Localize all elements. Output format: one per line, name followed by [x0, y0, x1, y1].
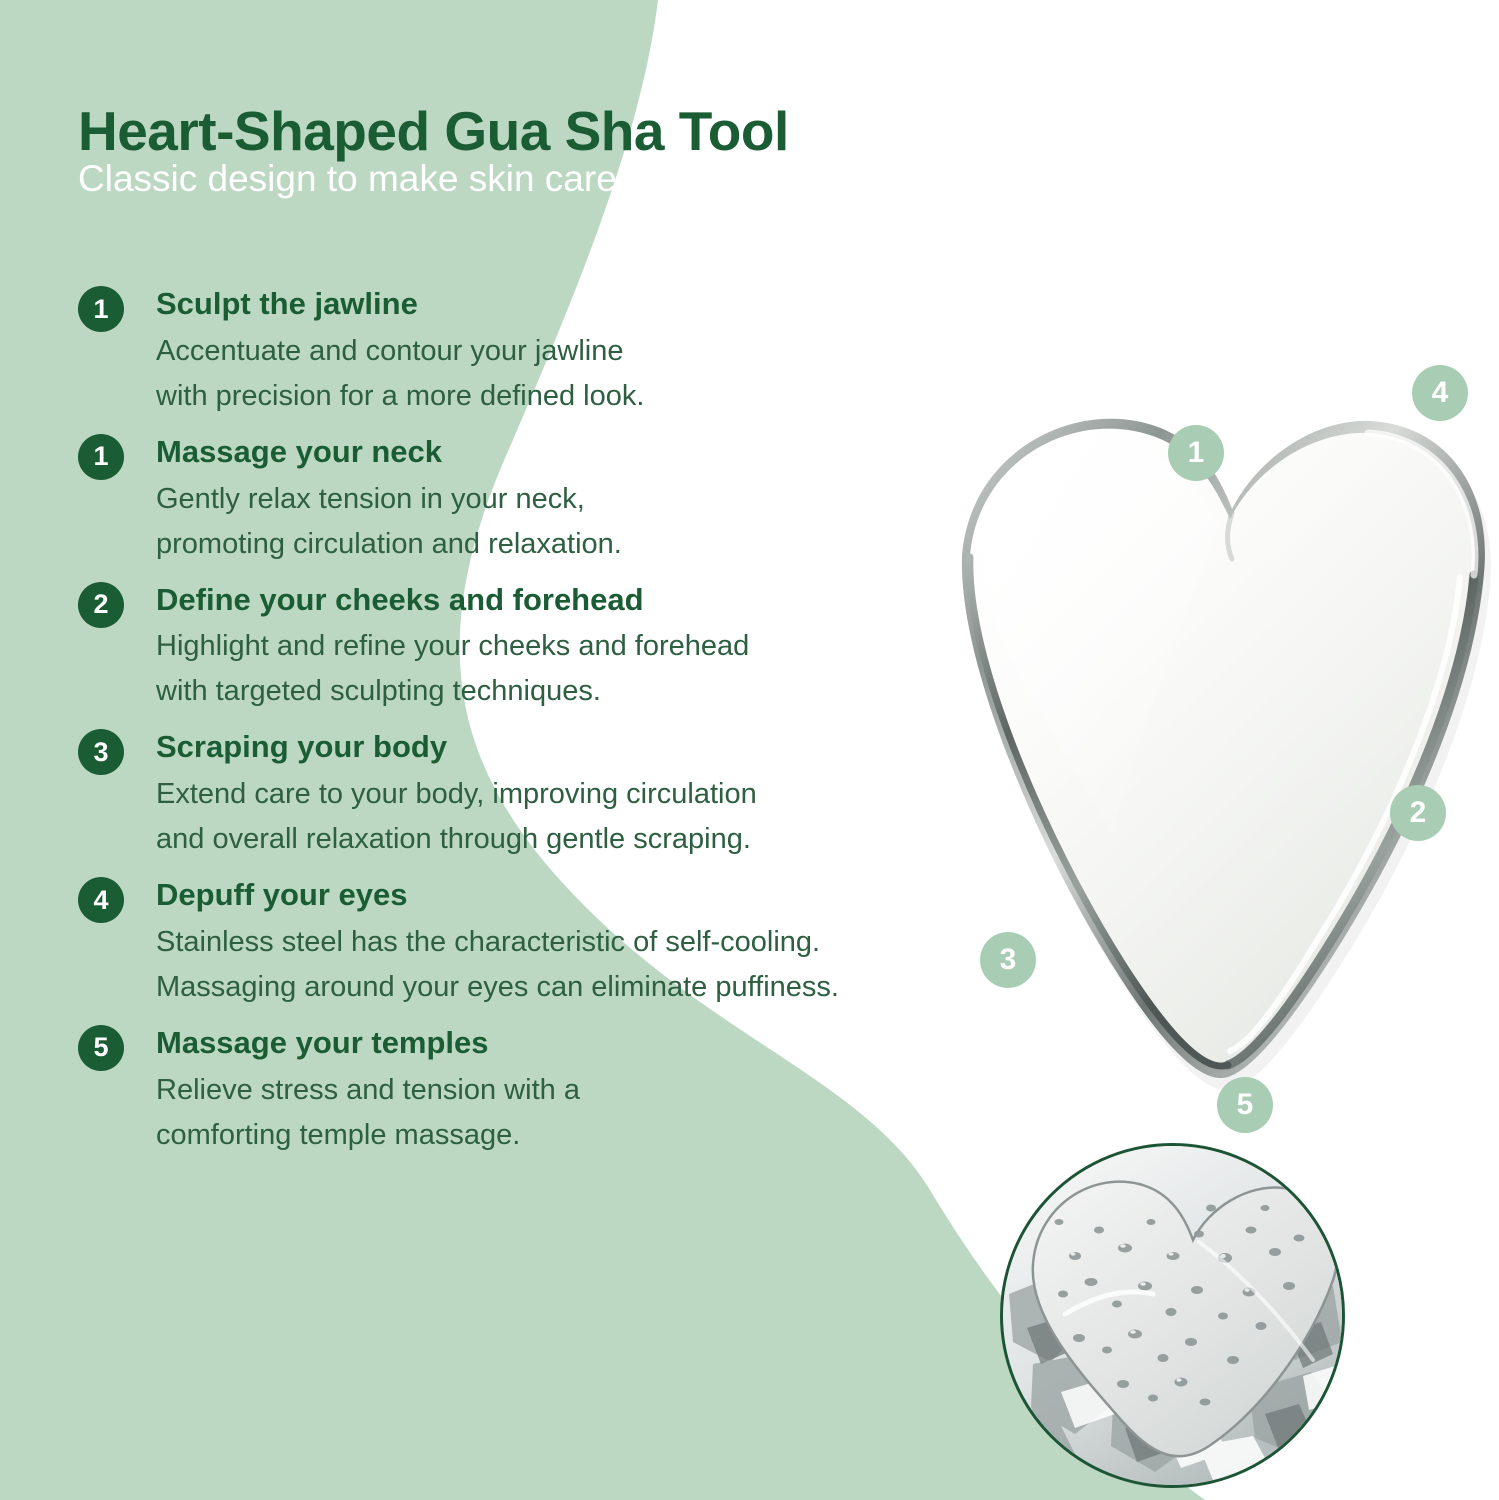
feature-list: 1 Sculpt the jawline Accentuate and cont… [0, 284, 940, 1171]
feature-title: Scraping your body [156, 727, 940, 768]
callout-marker-4: 4 [1412, 365, 1468, 421]
feature-number-badge: 1 [78, 434, 124, 480]
feature-description-line: Highlight and refine your cheeks and for… [156, 624, 940, 669]
feature-body: Define your cheeks and forehead Highligh… [156, 580, 940, 715]
feature-item: 4 Depuff your eyes Stainless steel has t… [0, 875, 940, 1010]
feature-item: 1 Massage your neck Gently relax tension… [0, 432, 940, 567]
feature-title: Massage your temples [156, 1023, 940, 1064]
feature-body: Massage your neck Gently relax tension i… [156, 432, 940, 567]
feature-description-line: Massaging around your eyes can eliminate… [156, 965, 940, 1010]
feature-item: 1 Sculpt the jawline Accentuate and cont… [0, 284, 940, 419]
infographic-page: Heart-Shaped Gua Sha Tool Classic design… [0, 0, 1499, 1500]
feature-title: Depuff your eyes [156, 875, 940, 916]
page-subtitle: Classic design to make skin care [78, 158, 617, 200]
feature-description-line: Extend care to your body, improving circ… [156, 772, 940, 817]
feature-number-badge: 2 [78, 582, 124, 628]
feature-body: Scraping your body Extend care to your b… [156, 727, 940, 862]
feature-description-line: comforting temple massage. [156, 1113, 940, 1158]
feature-item: 2 Define your cheeks and forehead Highli… [0, 580, 940, 715]
callout-marker-2: 2 [1390, 785, 1446, 841]
feature-number-badge: 5 [78, 1025, 124, 1071]
callout-marker-5: 5 [1217, 1077, 1273, 1133]
feature-body: Massage your temples Relieve stress and … [156, 1023, 940, 1158]
feature-body: Depuff your eyes Stainless steel has the… [156, 875, 940, 1010]
page-title: Heart-Shaped Gua Sha Tool [78, 99, 789, 163]
feature-item: 3 Scraping your body Extend care to your… [0, 727, 940, 862]
feature-description-line: Stainless steel has the characteristic o… [156, 920, 940, 965]
feature-title: Define your cheeks and forehead [156, 580, 940, 621]
ice-photo-graphic [1003, 1146, 1342, 1485]
feature-description-line: with precision for a more defined look. [156, 374, 940, 419]
feature-body: Sculpt the jawline Accentuate and contou… [156, 284, 940, 419]
feature-description-line: and overall relaxation through gentle sc… [156, 817, 940, 862]
feature-title: Massage your neck [156, 432, 940, 473]
feature-number-badge: 1 [78, 286, 124, 332]
ice-inset-photo [1000, 1143, 1345, 1488]
feature-number-badge: 4 [78, 877, 124, 923]
callout-marker-1: 1 [1168, 425, 1224, 481]
feature-description-line: Relieve stress and tension with a [156, 1068, 940, 1113]
callout-marker-3: 3 [980, 932, 1036, 988]
feature-description-line: with targeted sculpting techniques. [156, 669, 940, 714]
feature-title: Sculpt the jawline [156, 284, 940, 325]
feature-item: 5 Massage your temples Relieve stress an… [0, 1023, 940, 1158]
feature-description-line: promoting circulation and relaxation. [156, 522, 940, 567]
feature-number-badge: 3 [78, 729, 124, 775]
content-column: Heart-Shaped Gua Sha Tool Classic design… [0, 0, 960, 1500]
gua-sha-tool-image [940, 405, 1499, 1090]
feature-description-line: Gently relax tension in your neck, [156, 477, 940, 522]
feature-description-line: Accentuate and contour your jawline [156, 329, 940, 374]
